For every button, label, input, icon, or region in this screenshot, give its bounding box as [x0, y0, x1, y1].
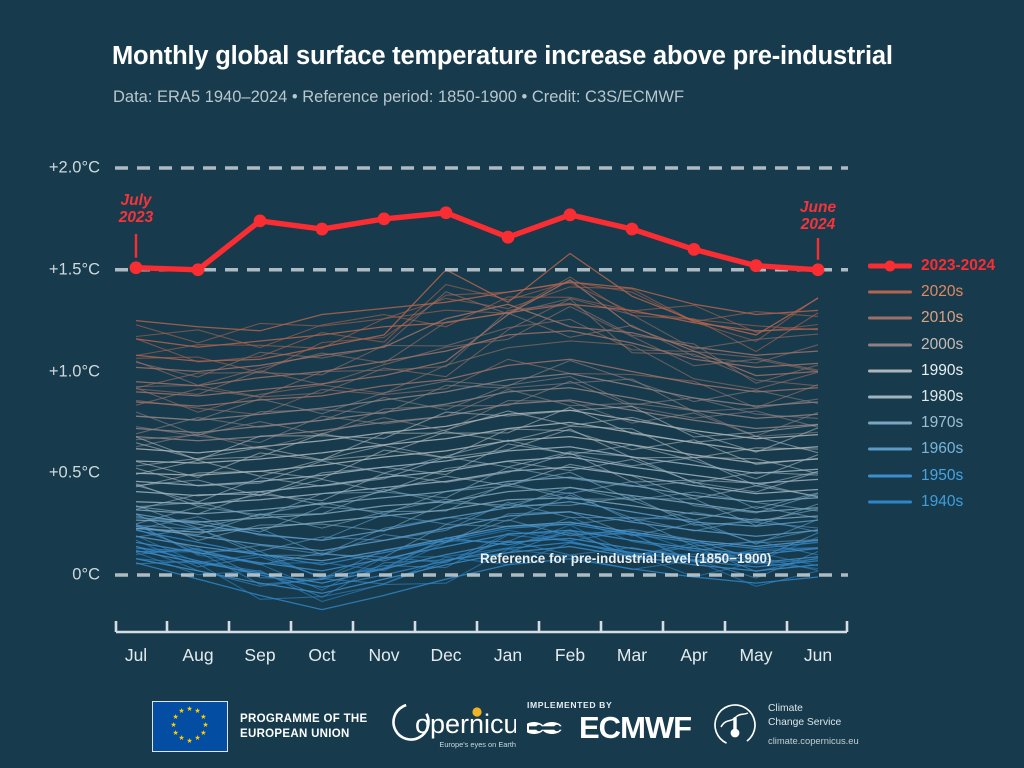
legend-item-2000s[interactable]: 2000s [868, 332, 995, 358]
x-axis-tick-label: Dec [416, 645, 476, 666]
x-axis-tick-label: Jun [788, 645, 848, 666]
legend-line-icon [868, 474, 912, 477]
legend-line-icon [868, 369, 912, 372]
annotation-june-2024-line2: 2024 [800, 216, 836, 233]
c3s-text-line1: Climate [768, 702, 859, 716]
legend-label: 1980s [921, 388, 963, 406]
legend-swatch-icon [868, 495, 912, 509]
annotation-july-2023: July 2023 [119, 192, 153, 227]
c3s-logo: Climate Change Service climate.copernicu… [712, 702, 859, 748]
legend-item-2020s[interactable]: 2020s [868, 279, 995, 305]
annotation-july-2023-line2: 2023 [119, 209, 153, 226]
copernicus-logo: opernicus Europe's eyes on Earth [388, 702, 516, 748]
x-axis-tick-label: May [726, 645, 786, 666]
legend-label: 1940s [921, 493, 963, 511]
footer-logos: ★★★★★★★★★★★★ PROGRAMME OF THE EUROPEAN U… [0, 693, 1024, 757]
y-axis-tick-label: +1.5°C [14, 260, 100, 279]
legend-line-icon [868, 396, 912, 399]
legend-label: 1990s [921, 362, 963, 380]
svg-text:opernicus: opernicus [415, 709, 516, 739]
legend-label: 1970s [921, 414, 963, 432]
legend-line-icon [868, 343, 912, 346]
ecmwf-mark-icon [527, 712, 573, 743]
legend-swatch-icon [868, 416, 912, 430]
y-axis-tick-label: +1.0°C [14, 362, 100, 381]
copernicus-wordmark: opernicus Europe's eyes on Earth [388, 702, 516, 748]
legend-line-icon [868, 422, 912, 425]
eu-star-icon: ★ [172, 730, 180, 738]
legend-item-1940s[interactable]: 1940s [868, 489, 995, 515]
copernicus-mark-icon: opernicus [388, 702, 516, 742]
eu-star-icon: ★ [170, 722, 178, 730]
copernicus-tagline: Europe's eyes on Earth [439, 740, 516, 749]
y-axis-tick-label: 0°C [14, 566, 100, 585]
eu-flag-icon: ★★★★★★★★★★★★ [152, 701, 228, 752]
c3s-url: climate.copernicus.eu [768, 735, 859, 748]
y-axis-tick-label: +0.5°C [14, 464, 100, 483]
x-axis-tick-label: Sep [230, 645, 290, 666]
x-axis-tick-label: Feb [540, 645, 600, 666]
legend-item-1960s[interactable]: 1960s [868, 436, 995, 462]
legend-line-icon [868, 317, 912, 320]
x-axis [116, 621, 847, 632]
legend-marker-icon [885, 261, 896, 272]
x-axis-tick-label: Nov [354, 645, 414, 666]
c3s-logo-text: Climate Change Service climate.copernicu… [768, 702, 859, 748]
eu-text-line2: EUROPEAN UNION [240, 727, 367, 742]
legend-swatch-icon [868, 285, 912, 299]
legend-item-1980s[interactable]: 1980s [868, 384, 995, 410]
legend-swatch-icon [868, 469, 912, 483]
legend-swatch-icon [868, 311, 912, 325]
x-axis-tick-label: Jul [106, 645, 166, 666]
chart-screenshot: Monthly global surface temperature incre… [0, 0, 1024, 768]
x-axis-tick-label: Aug [168, 645, 228, 666]
eu-text-line1: PROGRAMME OF THE [240, 712, 367, 727]
annotation-july-2023-line1: July [119, 192, 153, 209]
eu-star-icon: ★ [186, 706, 194, 714]
y-axis-tick-label: +2.0°C [14, 159, 100, 178]
reference-level-note: Reference for pre-industrial level (1850… [480, 551, 772, 566]
eu-star-icon: ★ [178, 708, 186, 716]
legend-label: 2023-2024 [921, 257, 995, 275]
x-axis-tick-label: Apr [664, 645, 724, 666]
legend-swatch-icon [868, 364, 912, 378]
legend-swatch-icon [868, 259, 912, 273]
c3s-text-line2: Change Service [768, 716, 859, 730]
legend-line-icon [868, 448, 912, 451]
annotation-june-2024: June 2024 [800, 199, 836, 234]
x-axis-tick-label: Jan [478, 645, 538, 666]
legend-label: 2000s [921, 336, 963, 354]
x-axis-tick-label: Oct [292, 645, 352, 666]
legend-item-1950s[interactable]: 1950s [868, 463, 995, 489]
ecmwf-wordmark: ECMWF [579, 712, 691, 743]
legend-swatch-icon [868, 338, 912, 352]
eu-star-icon: ★ [194, 735, 202, 743]
eu-star-icon: ★ [202, 722, 210, 730]
c3s-thermometer-icon [712, 702, 758, 748]
chart-legend: 2023-20242020s2010s2000s1990s1980s1970s1… [868, 253, 995, 515]
legend-line-icon [868, 500, 912, 503]
x-axis-tick-label: Mar [602, 645, 662, 666]
legend-label: 2020s [921, 283, 963, 301]
eu-star-icon: ★ [199, 714, 207, 722]
legend-item-1970s[interactable]: 1970s [868, 410, 995, 436]
legend-label: 1960s [921, 440, 963, 458]
legend-item-1990s[interactable]: 1990s [868, 358, 995, 384]
legend-item-2010s[interactable]: 2010s [868, 305, 995, 331]
implemented-by-label: IMPLEMENTED BY [527, 700, 691, 710]
legend-item-2023-2024[interactable]: 2023-2024 [868, 253, 995, 279]
highlight-series-2023-2024 [130, 206, 825, 276]
legend-swatch-icon [868, 442, 912, 456]
eu-logo-text: PROGRAMME OF THE EUROPEAN UNION [240, 712, 367, 741]
legend-line-icon [868, 291, 912, 294]
legend-swatch-icon [868, 390, 912, 404]
legend-label: 2010s [921, 309, 963, 327]
eu-star-icon: ★ [186, 738, 194, 746]
legend-label: 1950s [921, 467, 963, 485]
eu-logo: ★★★★★★★★★★★★ PROGRAMME OF THE EUROPEAN U… [152, 701, 367, 752]
annotation-june-2024-line1: June [800, 199, 836, 216]
